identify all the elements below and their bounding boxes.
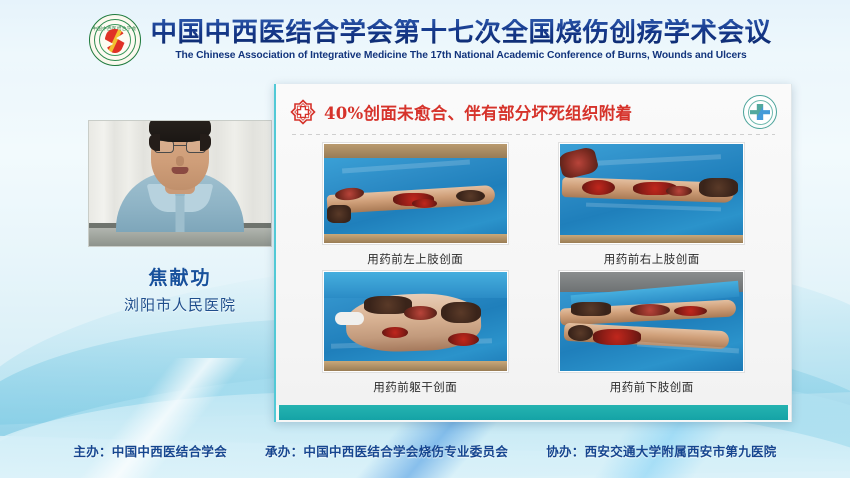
- conference-title-en: The Chinese Association of Integrative M…: [175, 50, 746, 61]
- photo-caption: 用药前下肢创面: [610, 379, 694, 395]
- speaker-name: 焦献功: [88, 263, 272, 290]
- clinical-photo-left-upper-limb[interactable]: [323, 143, 508, 244]
- slide-title: 40%创面未愈合、伴有部分坏死组织附着: [324, 100, 735, 124]
- glasses-bridge: [174, 145, 186, 146]
- photo-caption: 用药前躯干创面: [373, 379, 457, 395]
- slide-content: 40%创面未愈合、伴有部分坏死组织附着: [276, 84, 791, 405]
- footer-organizer: 主办：中国中西医结合学会: [73, 441, 227, 460]
- photo-cell: 用药前左上肢创面: [302, 143, 529, 267]
- photo-caption: 用药前右上肢创面: [604, 251, 700, 267]
- clinical-photo-trunk[interactable]: [323, 271, 508, 372]
- photo-wound: [571, 302, 611, 316]
- clinical-photo-right-upper-limb[interactable]: [559, 143, 744, 244]
- speaker-hair: [149, 120, 211, 142]
- hospital-emblem-icon: [743, 95, 777, 129]
- photo-wound: [404, 306, 437, 320]
- photo-wound: [593, 329, 641, 345]
- photo-caption: 用药前左上肢创面: [367, 251, 463, 267]
- conference-title-cn: 中国中西医结合学会第十七次全国烧伤创疡学术会议: [151, 19, 772, 48]
- speaker-shirt-placket: [176, 196, 185, 232]
- photo-bed-lower: [324, 361, 507, 371]
- photo-grid: 用药前左上肢创面 用药前右上肢创面: [290, 135, 777, 395]
- conference-footer: 主办：中国中西医结合学会 承办：中国中西医结合学会烧伤专业委员会 协办：西安交通…: [0, 422, 850, 478]
- presentation-slide[interactable]: 40%创面未愈合、伴有部分坏死组织附着: [274, 84, 792, 422]
- photo-cell: 用药前下肢创面: [539, 271, 766, 395]
- photo-wound: [441, 302, 481, 324]
- photo-bed-lower: [560, 235, 743, 243]
- speaker-mouth: [172, 167, 189, 174]
- footer-supporter: 协办：西安交通大学附属西安市第九医院: [546, 441, 776, 460]
- photo-bed-lower: [324, 234, 507, 243]
- slide-footer-bar: [279, 405, 788, 420]
- hospital-emblem-mark: [750, 104, 770, 120]
- cam-emblem-arc-text: 中国中西医结合学会: [92, 26, 136, 32]
- cam-emblem-core: [105, 29, 125, 53]
- photo-cell: 用药前右上肢创面: [539, 143, 766, 267]
- cam-emblem-icon: 中国中西医结合学会: [89, 14, 141, 66]
- photo-wound: [327, 205, 351, 223]
- red-cross-icon: [290, 99, 316, 125]
- photo-wound: [456, 190, 485, 203]
- clinical-photo-lower-limb[interactable]: [559, 271, 744, 372]
- speaker-panel: 焦献功 浏阳市人民医院: [88, 120, 272, 315]
- speaker-video[interactable]: [88, 120, 272, 247]
- speaker-nose: [176, 156, 184, 166]
- photo-cell: 用药前躯干创面: [302, 271, 529, 395]
- conference-header: 中国中西医结合学会 中国中西医结合学会第十七次全国烧伤创疡学术会议 The Ch…: [0, 0, 850, 80]
- photo-limb: [335, 312, 364, 326]
- photo-wound: [630, 304, 670, 316]
- speaker-organization: 浏阳市人民医院: [88, 294, 272, 315]
- slide-header-row: 40%创面未愈合、伴有部分坏死组织附着: [290, 92, 777, 132]
- speaker-glasses: [154, 140, 206, 154]
- photo-wound: [699, 178, 737, 198]
- photo-wound: [674, 306, 707, 316]
- footer-co-organizer: 承办：中国中西医结合学会烧伤专业委员会: [265, 441, 508, 460]
